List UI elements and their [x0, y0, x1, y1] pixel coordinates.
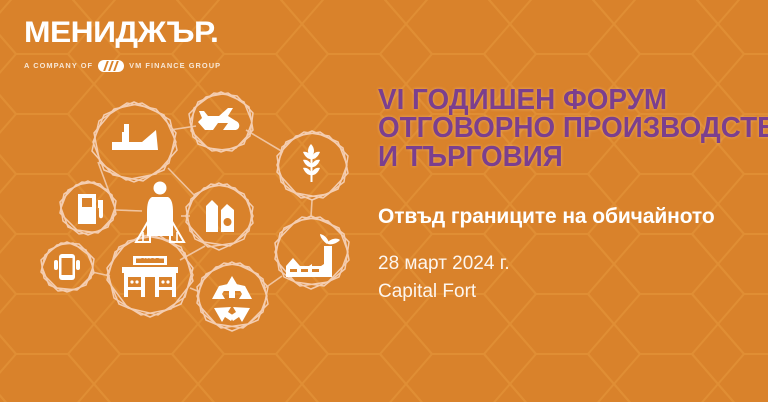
- mobile-phone-icon: [54, 254, 80, 280]
- headline-line-3: И ТЪРГОВИЯ: [378, 143, 747, 171]
- tagline-suffix: VM FINANCE GROUP: [129, 62, 221, 69]
- shopper-person-icon: [136, 182, 184, 243]
- logo-wordmark: МЕНИДЖЪР.: [24, 18, 233, 48]
- headline-line-2: ОТГОВОРНО ПРОИЗВОДСТВО: [378, 114, 747, 142]
- event-venue: Capital Fort: [378, 278, 762, 306]
- headline-line-1: VI ГОДИШЕН ФОРУМ: [378, 86, 747, 114]
- fuel-pump-icon: [78, 194, 103, 224]
- ring-carton: [186, 183, 253, 250]
- event-headline: VI ГОДИШЕН ФОРУМ ОТГОВОРНО ПРОИЗВОДСТВО …: [378, 86, 747, 171]
- shop-sign-text: SHOP: [140, 258, 160, 265]
- tagline-prefix: A COMPANY OF: [24, 62, 93, 69]
- wheat-icon: [303, 144, 320, 182]
- airplane-icon: [198, 108, 239, 130]
- event-subtitle: Отвъд границите на обичайното: [378, 205, 762, 228]
- logo-tagline: A COMPANY OF VM FINANCE GROUP: [24, 60, 221, 72]
- cargo-ship-icon: [112, 124, 158, 150]
- supply-chain-network-graphic: SHOP: [0, 60, 370, 360]
- event-poster: МЕНИДЖЪР. A COMPANY OF VM FINANCE GROUP: [0, 0, 768, 402]
- event-date: 28 март 2024 г.: [378, 250, 762, 278]
- vm-finance-group-mark-icon: [98, 60, 124, 72]
- milk-carton-icon: [206, 200, 234, 232]
- factory-icon: [286, 234, 340, 277]
- ring-factory: [275, 216, 349, 289]
- event-text-block: VI ГОДИШЕН ФОРУМ ОТГОВОРНО ПРОИЗВОДСТВО …: [378, 86, 762, 305]
- recycle-icon: [212, 276, 252, 322]
- brand-logo: МЕНИДЖЪР. A COMPANY OF VM FINANCE GROUP: [24, 18, 221, 72]
- event-meta: 28 март 2024 г. Capital Fort: [378, 250, 762, 305]
